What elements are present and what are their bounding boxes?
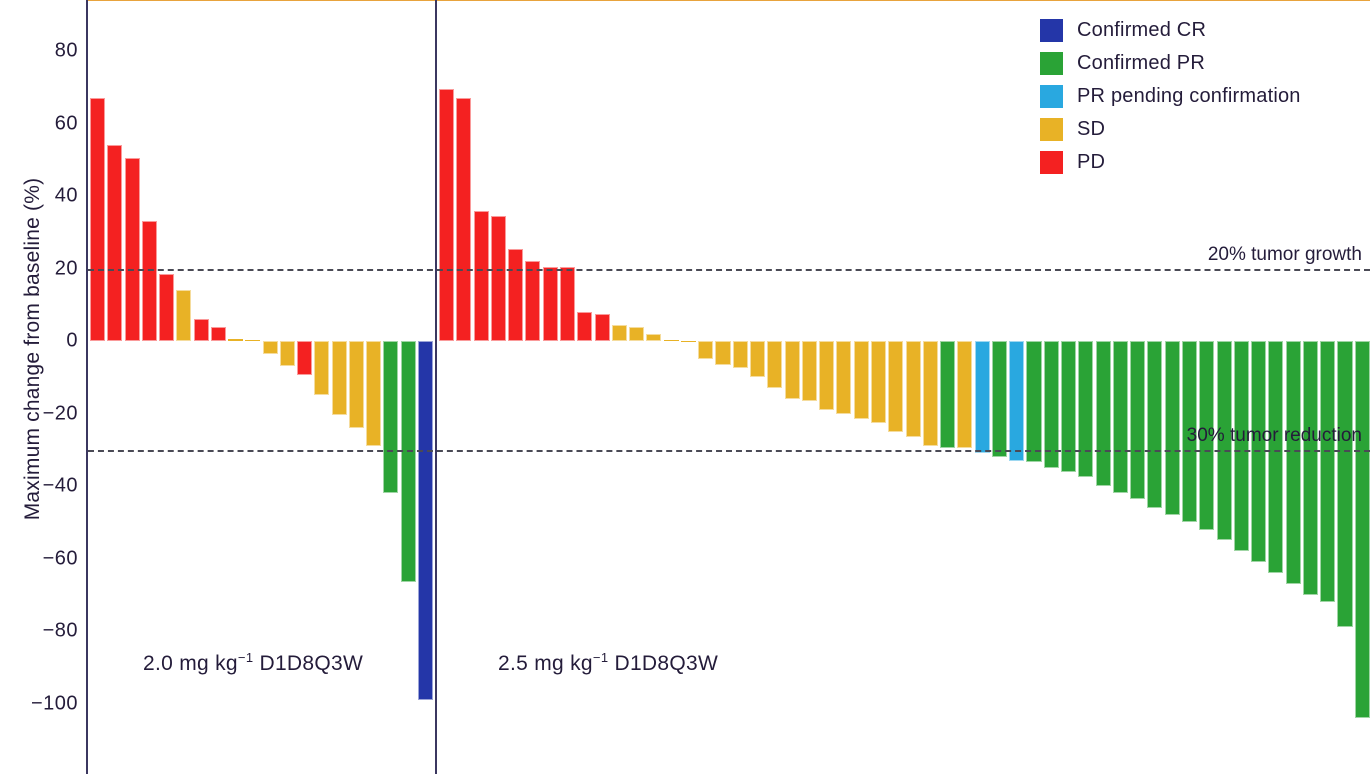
panel-caption-dose: 2.0 mg kg [143, 652, 238, 675]
legend-label: Confirmed PR [1077, 52, 1205, 75]
bar [785, 341, 800, 399]
bar [664, 340, 679, 341]
bar [1286, 341, 1301, 584]
bar [508, 249, 523, 341]
bar [245, 340, 260, 341]
legend-swatch-icon [1040, 19, 1063, 42]
bar [595, 314, 610, 341]
bar [349, 341, 364, 428]
legend-item-0: Confirmed CR [1040, 14, 1301, 47]
bar [474, 211, 489, 342]
bar [1130, 341, 1145, 499]
bar [1337, 341, 1352, 627]
legend-item-1: Confirmed PR [1040, 47, 1301, 80]
y-tick-neg80: −80 [14, 620, 78, 643]
bar [1165, 341, 1180, 515]
bar [543, 267, 558, 341]
legend-label: SD [1077, 118, 1105, 141]
panel-caption-dose-2-5: 2.5 mg kg−1 D1D8Q3W [498, 650, 718, 676]
reference-line-growth [88, 269, 1370, 271]
legend-item-4: PD [1040, 146, 1301, 179]
bar [750, 341, 765, 377]
bar [439, 89, 454, 341]
panel-caption-exponent: −1 [593, 650, 608, 665]
bar [211, 327, 226, 342]
bar [456, 98, 471, 341]
bar [560, 267, 575, 341]
bar [854, 341, 869, 419]
bar [629, 327, 644, 342]
bar [698, 341, 713, 359]
panel-caption-schedule: D1D8Q3W [253, 652, 363, 675]
bar [418, 341, 433, 700]
bar [577, 312, 592, 341]
bar [802, 341, 817, 401]
bar [263, 341, 278, 354]
panel-caption-dose-2-0: 2.0 mg kg−1 D1D8Q3W [143, 650, 363, 676]
bar [142, 221, 157, 341]
legend-swatch-icon [1040, 118, 1063, 141]
panel-divider [435, 0, 437, 774]
zero-baseline [88, 0, 1370, 1]
bar [1026, 341, 1041, 462]
bar [923, 341, 938, 446]
bar [1268, 341, 1283, 573]
bar [957, 341, 972, 448]
y-tick-80: 80 [14, 40, 78, 63]
bar [159, 274, 174, 341]
legend-item-2: PR pending confirmation [1040, 80, 1301, 113]
bar [1320, 341, 1335, 602]
bar [314, 341, 329, 395]
bar [1355, 341, 1370, 718]
y-tick-neg60: −60 [14, 547, 78, 570]
bar [297, 341, 312, 375]
panel-caption-exponent: −1 [238, 650, 253, 665]
legend-label: Confirmed CR [1077, 19, 1206, 42]
bar [176, 290, 191, 341]
reference-label-growth: 20% tumor growth [1208, 244, 1362, 269]
bar [681, 341, 696, 342]
bar [90, 98, 105, 341]
y-tick-neg100: −100 [14, 692, 78, 715]
bar [836, 341, 851, 414]
bar [525, 261, 540, 341]
bar [194, 319, 209, 341]
bar [767, 341, 782, 388]
bar [107, 145, 122, 341]
panel-caption-schedule: D1D8Q3W [608, 652, 718, 675]
bar [1303, 341, 1318, 595]
bar [366, 341, 381, 446]
bar [125, 158, 140, 341]
bar [992, 341, 1007, 457]
bar [888, 341, 903, 432]
legend-item-3: SD [1040, 113, 1301, 146]
legend-swatch-icon [1040, 151, 1063, 174]
bar [228, 339, 243, 341]
y-axis-tick-labels: 806040200−20−40−60−80−100 [14, 0, 78, 774]
bar [612, 325, 627, 341]
bar [1078, 341, 1093, 477]
y-tick-40: 40 [14, 185, 78, 208]
y-tick-60: 60 [14, 112, 78, 135]
reference-line-reduction [88, 450, 1370, 452]
bar [819, 341, 834, 410]
y-tick-neg40: −40 [14, 475, 78, 498]
bar [733, 341, 748, 368]
legend-label: PR pending confirmation [1077, 85, 1301, 108]
bar [332, 341, 347, 415]
legend: Confirmed CRConfirmed PRPR pending confi… [1040, 14, 1301, 179]
panel-caption-dose: 2.5 mg kg [498, 652, 593, 675]
y-tick-0: 0 [14, 330, 78, 353]
bar [940, 341, 955, 448]
bar [1061, 341, 1076, 472]
bar [401, 341, 416, 582]
legend-label: PD [1077, 151, 1105, 174]
legend-swatch-icon [1040, 52, 1063, 75]
bar [1113, 341, 1128, 493]
reference-label-reduction: 30% tumor reduction [1187, 425, 1362, 450]
waterfall-chart: Maximum change from baseline (%) 8060402… [0, 0, 1370, 774]
bar [280, 341, 295, 366]
bar [1096, 341, 1111, 486]
bar [871, 341, 886, 423]
bar [491, 216, 506, 341]
y-tick-neg20: −20 [14, 402, 78, 425]
bar [906, 341, 921, 437]
bar [1147, 341, 1162, 508]
bar [646, 334, 661, 341]
bar [715, 341, 730, 365]
bar [1009, 341, 1024, 461]
legend-swatch-icon [1040, 85, 1063, 108]
y-tick-20: 20 [14, 257, 78, 280]
bar [975, 341, 990, 453]
bar [383, 341, 398, 493]
